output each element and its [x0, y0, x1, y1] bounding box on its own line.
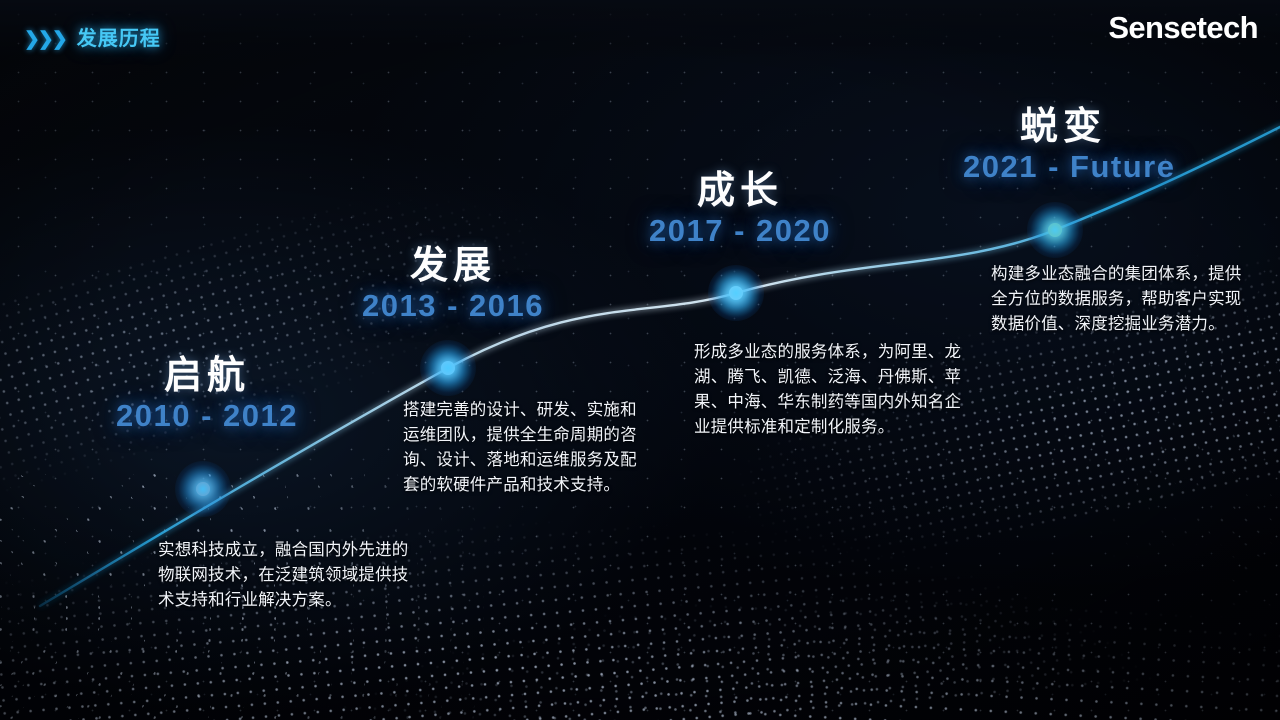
milestone-description: 形成多业态的服务体系，为阿里、龙湖、腾飞、凯德、泛海、丹佛斯、苹果、中海、华东制…	[694, 340, 966, 440]
milestone-node-dot[interactable]	[729, 286, 743, 300]
milestone-years: 2017 - 2020	[645, 212, 835, 251]
milestone-title: 发展	[358, 247, 548, 287]
milestone-description: 搭建完善的设计、研发、实施和运维团队，提供全生命周期的咨询、设计、落地和运维服务…	[403, 398, 648, 498]
milestone-years: 2021 - Future	[963, 148, 1163, 187]
milestone-node-dot[interactable]	[1048, 223, 1062, 237]
milestone-description: 构建多业态融合的集团体系，提供全方位的数据服务，帮助客户实现数据价值、深度挖掘业…	[991, 262, 1247, 337]
milestone-title: 成长	[645, 172, 835, 212]
milestone-years: 2010 - 2012	[112, 397, 302, 436]
header-bar	[0, 0, 1280, 62]
milestone-heading: 成长 2017 - 2020	[645, 172, 835, 251]
breadcrumb: ❯❯❯ 发展历程	[24, 29, 161, 49]
milestone-heading: 蜕变 2021 - Future	[963, 108, 1163, 187]
milestone-title: 蜕变	[963, 108, 1163, 148]
milestone-title: 启航	[112, 357, 302, 397]
chevrons-right-icon: ❯❯❯	[24, 30, 66, 49]
milestone-description: 实想科技成立，融合国内外先进的物联网技术，在泛建筑领域提供技术支持和行业解决方案…	[158, 538, 410, 613]
brand-logo: Sensetech	[1108, 12, 1258, 43]
milestone-years: 2013 - 2016	[358, 287, 548, 326]
milestone-node-dot[interactable]	[441, 361, 455, 375]
milestone-heading: 启航 2010 - 2012	[112, 357, 302, 436]
timeline-slide: ❯❯❯ 发展历程 Sensetech	[0, 0, 1280, 720]
page-title: 发展历程	[77, 29, 161, 49]
milestone-node-dot[interactable]	[196, 482, 210, 496]
milestone-heading: 发展 2013 - 2016	[358, 247, 548, 326]
